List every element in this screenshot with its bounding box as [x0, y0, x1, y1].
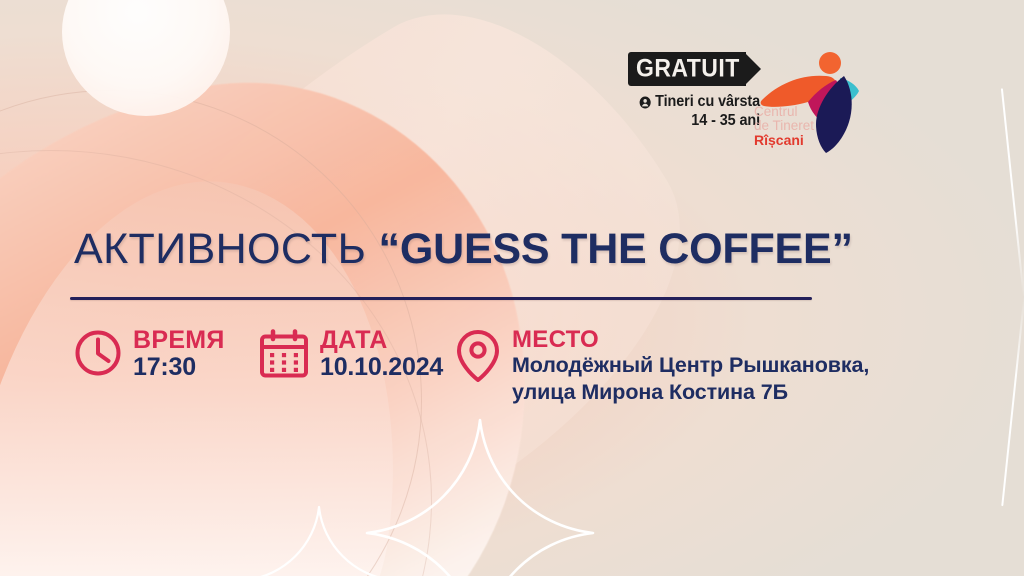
- age-line-1: Tineri cu vârsta: [655, 93, 760, 112]
- place-value-line-1: Молодёжный Центр Рышкановка,: [512, 353, 869, 377]
- logo-line-2: de Tineret: [754, 118, 814, 133]
- time-label: ВРЕМЯ: [133, 326, 225, 354]
- date-label: ДАТА: [320, 326, 388, 354]
- background-base: [0, 0, 1024, 576]
- detail-date: ДАТА 10.10.2024: [259, 326, 455, 382]
- map-pin-icon: [455, 329, 501, 383]
- event-details: ВРЕМЯ 17:30: [74, 326, 869, 406]
- place-value-line-2: улица Мирона Костина 7Б: [512, 380, 788, 404]
- detail-place: МЕСТО Молодёжный Центр Рышкановка, улица…: [455, 326, 869, 406]
- age-requirement: Tineri cu vârsta 14 - 35 ani: [637, 93, 760, 131]
- place-label: МЕСТО: [512, 326, 599, 353]
- logo-line-3: Rîșcani: [754, 132, 804, 148]
- event-banner: GRATUIT Tineri cu vârsta 14 - 35 ani: [0, 0, 1024, 576]
- title-prefix: АКТИВНОСТЬ: [74, 225, 379, 273]
- person-in-circle-icon: [639, 96, 651, 109]
- date-value: 10.10.2024: [320, 353, 443, 381]
- title-divider: [70, 297, 812, 300]
- free-badge: GRATUIT Tineri cu vârsta 14 - 35 ani: [628, 52, 760, 131]
- age-line-2: 14 - 35 ani: [637, 112, 760, 131]
- free-tag: GRATUIT: [628, 52, 746, 86]
- detail-time: ВРЕМЯ 17:30: [74, 326, 259, 382]
- clock-icon: [74, 329, 122, 377]
- logo-line-1: Centrul: [754, 104, 798, 119]
- logo-head-dot: [819, 52, 841, 74]
- title-quoted: “GUESS THE COFFEE”: [379, 225, 853, 273]
- calendar-icon: [259, 329, 309, 379]
- centrul-de-tineret-riscani-logo: Centrul de Tineret Rîșcani: [752, 48, 870, 160]
- page-title: АКТИВНОСТЬ “GUESS THE COFFEE”: [74, 228, 853, 271]
- free-tag-label: GRATUIT: [636, 57, 740, 82]
- time-value: 17:30: [133, 353, 196, 381]
